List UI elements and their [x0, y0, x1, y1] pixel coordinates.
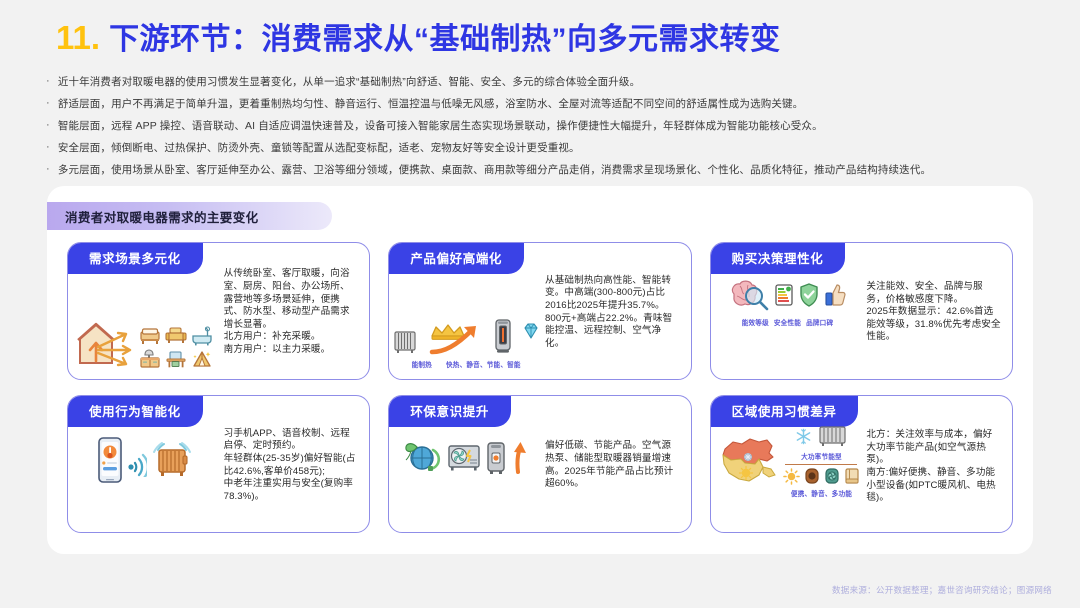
card-visual	[68, 396, 222, 532]
card-text: 偏好低碳、节能产品。空气源热泵、储能型取暖器销量增速高。2025年节能产品占比预…	[543, 431, 691, 496]
divider	[785, 464, 857, 465]
bullet-dot: ·	[46, 119, 50, 132]
icon-row	[403, 438, 529, 476]
title-number: 11.	[56, 19, 100, 57]
bullet-item: · 多元层面，使用场景从卧室、客厅延伸至办公、露营、卫浴等细分领域，便携款、桌面…	[46, 164, 1046, 177]
caption-row: 能制热 快热、静音、节能、智能	[412, 357, 521, 369]
icon-row-south	[783, 467, 860, 485]
caption-row: 能效等级 安全性能 品牌口碑	[742, 315, 834, 327]
heat-pump-icon	[447, 442, 481, 472]
radiator-icon	[818, 424, 848, 448]
icon-caption: 能效等级	[742, 317, 769, 327]
icon-caption: 安全性能	[774, 317, 801, 327]
electric-blanket-icon	[844, 467, 860, 485]
bullet-text: 智能层面，远程 APP 操控、语音联动、AI 自适应调温快速普及，设备可接入智能…	[58, 120, 1046, 133]
bullet-item: · 安全层面，倾倒断电、过热保护、防烫外壳、童锁等配置从选配变标配，适老、宠物友…	[46, 142, 1046, 155]
shield-check-icon	[798, 282, 820, 308]
card-grid: 需求场景多元化	[67, 242, 1013, 533]
card-visual: 能制热 快热、静音、节能、智能	[389, 243, 543, 379]
wifi-signal-icon	[127, 443, 147, 477]
title-text: 下游环节：消费需求从“基础制热”向多元需求转变	[109, 14, 781, 58]
card-visual	[68, 243, 222, 379]
brain-magnifier-icon	[728, 278, 770, 312]
card-purchase-decision-rational[interactable]: 购买决策理性化	[710, 242, 1013, 380]
bed-icon	[139, 326, 161, 346]
card-product-preference-premium[interactable]: 产品偏好高端化	[388, 242, 691, 380]
sofa-icon	[165, 326, 187, 346]
desk-icon	[165, 349, 187, 369]
card-body: 从传统卧室、客厅取暖，向浴室、厨房、阳台、办公场所、露营地等多场景延伸，便携式、…	[68, 243, 369, 379]
bullet-text: 舒适层面，用户不再满足于简单升温，更着重制热均匀性、静音运行、恒温控温与低噪无风…	[58, 98, 1046, 111]
icon-row	[728, 278, 846, 312]
icon-caption: 能制热	[412, 359, 432, 369]
bathtub-icon	[191, 326, 213, 346]
crown-arrow-icon	[426, 318, 484, 356]
card-eco-awareness-rising[interactable]: 环保意识提升	[388, 395, 691, 533]
water-heater-icon	[485, 438, 507, 476]
bullet-item: · 舒适层面，用户不再满足于简单升温，更着重制热均匀性、静音运行、恒温控温与低噪…	[46, 98, 1046, 111]
diamond-icon	[522, 322, 540, 340]
radiator-grey-icon	[392, 322, 418, 356]
icon-row	[392, 316, 540, 356]
bullet-item: · 智能层面，远程 APP 操控、语音联动、AI 自适应调温快速普及，设备可接入…	[46, 120, 1046, 133]
card-visual: 能效等级 安全性能 品牌口碑	[711, 243, 865, 379]
card-body: 偏好低碳、节能产品。空气源热泵、储能型取暖器销量增速高。2025年节能产品占比预…	[389, 396, 690, 532]
card-visual: 大功率节能型	[711, 396, 865, 532]
icon-caption: 快热、静音、节能、智能	[446, 359, 521, 369]
up-arrow-icon	[511, 440, 529, 474]
bullet-list: · 近十年消费者对取暖电器的使用习惯发生显著变化，从单一追求“基础制热”向舒适、…	[46, 76, 1046, 186]
card-text: 习手机APP、语音校制、远程启停、定时预约。 年轻群体(25-35岁)偏好智能(…	[222, 419, 370, 510]
card-body: 习手机APP、语音校制、远程启停、定时预约。 年轻群体(25-35岁)偏好智能(…	[68, 396, 369, 532]
oil-radiator-icon	[150, 438, 194, 482]
icon-row	[96, 436, 194, 484]
card-body: 大功率节能型	[711, 396, 1012, 532]
sun-icon	[783, 468, 800, 485]
bullet-text: 多元层面，使用场景从卧室、客厅延伸至办公、露营、卫浴等细分领域，便携款、桌面款、…	[58, 164, 1046, 177]
card-regional-usage-difference[interactable]: 区域使用习惯差异	[710, 395, 1013, 533]
card-text: 北方：关注效率与成本，偏好大功率节能产品(如空气源热泵)。 南方:偏好便携、静音…	[864, 417, 1012, 511]
bullet-dot: ·	[46, 163, 50, 176]
card-demand-scene-diversification[interactable]: 需求场景多元化	[67, 242, 370, 380]
tent-icon	[191, 349, 213, 369]
snowflake-icon	[795, 428, 812, 445]
thumbs-up-icon	[824, 282, 846, 308]
bullet-dot: ·	[46, 97, 50, 110]
source-footer: 数据来源：公开数据整理；嘉世咨询研究结论；图源网络	[832, 584, 1052, 596]
page-title: 11. 下游环节：消费需求从“基础制热”向多元需求转变	[56, 14, 781, 58]
globe-leaf-plug-icon	[403, 438, 443, 476]
icon-caption-north: 大功率节能型	[801, 451, 842, 461]
icon-caption: 品牌口碑	[806, 317, 833, 327]
card-body: 能制热 快热、静音、节能、智能 从基础制热向高性能、智能转变。中高端(300-8…	[389, 243, 690, 379]
bullet-text: 安全层面，倾倒断电、过热保护、防烫外壳、童锁等配置从选配变标配，适老、宠物友好等…	[58, 142, 1046, 155]
card-text: 关注能效、安全、品牌与服务，价格敏感度下降。 2025年数据显示：42.6%首选…	[864, 272, 1012, 350]
section-header-label: 消费者对取暖电器需求的主要变化	[65, 207, 259, 226]
heater-tower-icon	[492, 316, 514, 356]
icon-row-north	[795, 424, 848, 448]
icon-caption-south: 便携、静音、多功能	[791, 488, 852, 498]
card-text: 从基础制热向高性能、智能转变。中高端(300-800元)占比2016比2025年…	[543, 266, 691, 357]
section-header: 消费者对取暖电器需求的主要变化	[47, 202, 332, 230]
main-panel: 消费者对取暖电器需求的主要变化 需求场景多元化	[47, 186, 1033, 554]
fan-heater-icon	[824, 467, 840, 485]
house-arrows-icon	[76, 317, 134, 369]
card-usage-behavior-smart[interactable]: 使用行为智能化	[67, 395, 370, 533]
kitchen-icon	[139, 349, 161, 369]
bullet-dot: ·	[46, 75, 50, 88]
ptc-heater-icon	[804, 467, 820, 485]
bullet-item: · 近十年消费者对取暖电器的使用习惯发生显著变化，从单一追求“基础制热”向舒适、…	[46, 76, 1046, 89]
card-text: 从传统卧室、客厅取暖，向浴室、厨房、阳台、办公场所、露营地等多场景延伸，便携式、…	[222, 259, 370, 362]
card-visual	[389, 396, 543, 532]
bullet-dot: ·	[46, 141, 50, 154]
smartphone-app-icon	[96, 436, 124, 484]
card-body: 能效等级 安全性能 品牌口碑 关注能效、安全、品牌与服务，价格敏感度下降。 20…	[711, 243, 1012, 379]
energy-label-icon	[774, 283, 794, 307]
china-map-icon	[715, 433, 781, 489]
icon-row	[76, 317, 213, 369]
bullet-text: 近十年消费者对取暖电器的使用习惯发生显著变化，从单一追求“基础制热”向舒适、智能…	[58, 76, 1046, 89]
